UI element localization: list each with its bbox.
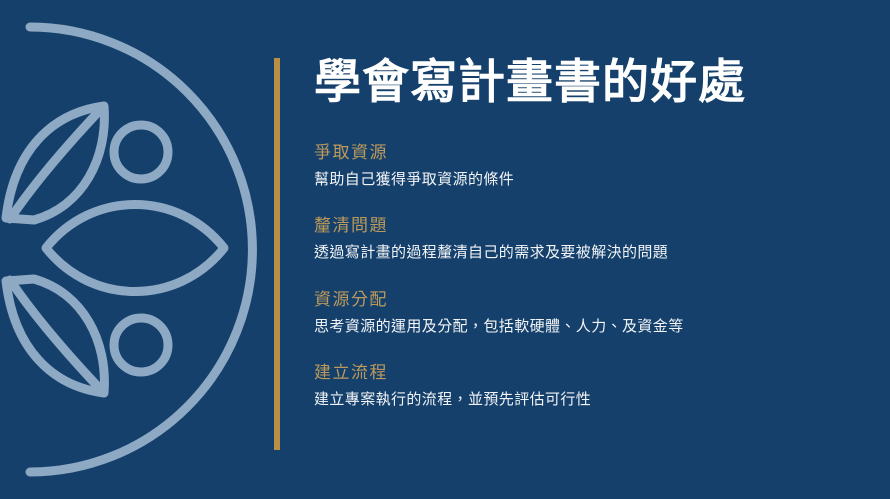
leaf-lower xyxy=(6,279,104,393)
outer-arc xyxy=(30,27,252,472)
list-item: 釐清問題 透過寫計畫的過程釐清自己的需求及要被解決的問題 xyxy=(314,215,874,263)
benefit-list: 爭取資源 幫助自己獲得爭取資源的條件 釐清問題 透過寫計畫的過程釐清自己的需求及… xyxy=(314,142,874,410)
ring-lower xyxy=(114,318,168,372)
list-item: 建立流程 建立專案執行的流程，並預先評估可行性 xyxy=(314,362,874,410)
benefit-heading: 建立流程 xyxy=(314,362,874,384)
benefit-description: 建立專案執行的流程，並預先評估可行性 xyxy=(314,390,874,410)
leaf-lower-vein xyxy=(10,280,103,392)
list-item: 資源分配 思考資源的運用及分配，包括軟硬體、人力、及資金等 xyxy=(314,289,874,337)
leaf-upper xyxy=(6,106,104,220)
benefit-description: 幫助自己獲得爭取資源的條件 xyxy=(314,170,874,190)
benefit-heading: 釐清問題 xyxy=(314,215,874,237)
leaf-center xyxy=(46,205,224,292)
benefit-description: 透過寫計畫的過程釐清自己的需求及要被解決的問題 xyxy=(314,243,874,263)
ring-upper xyxy=(114,125,168,179)
floral-leaf-mandala-ornament xyxy=(0,0,300,499)
presentation-slide: 學會寫計畫書的好處 爭取資源 幫助自己獲得爭取資源的條件 釐清問題 透過寫計畫的… xyxy=(0,0,890,499)
benefit-heading: 資源分配 xyxy=(314,289,874,311)
list-item: 爭取資源 幫助自己獲得爭取資源的條件 xyxy=(314,142,874,190)
leaf-upper-vein xyxy=(10,107,103,219)
gold-accent-bar xyxy=(274,58,280,450)
benefit-description: 思考資源的運用及分配，包括軟硬體、人力、及資金等 xyxy=(314,317,874,337)
page-title: 學會寫計畫書的好處 xyxy=(314,57,746,108)
slide-content: 學會寫計畫書的好處 爭取資源 幫助自己獲得爭取資源的條件 釐清問題 透過寫計畫的… xyxy=(314,0,874,499)
benefit-heading: 爭取資源 xyxy=(314,142,874,164)
